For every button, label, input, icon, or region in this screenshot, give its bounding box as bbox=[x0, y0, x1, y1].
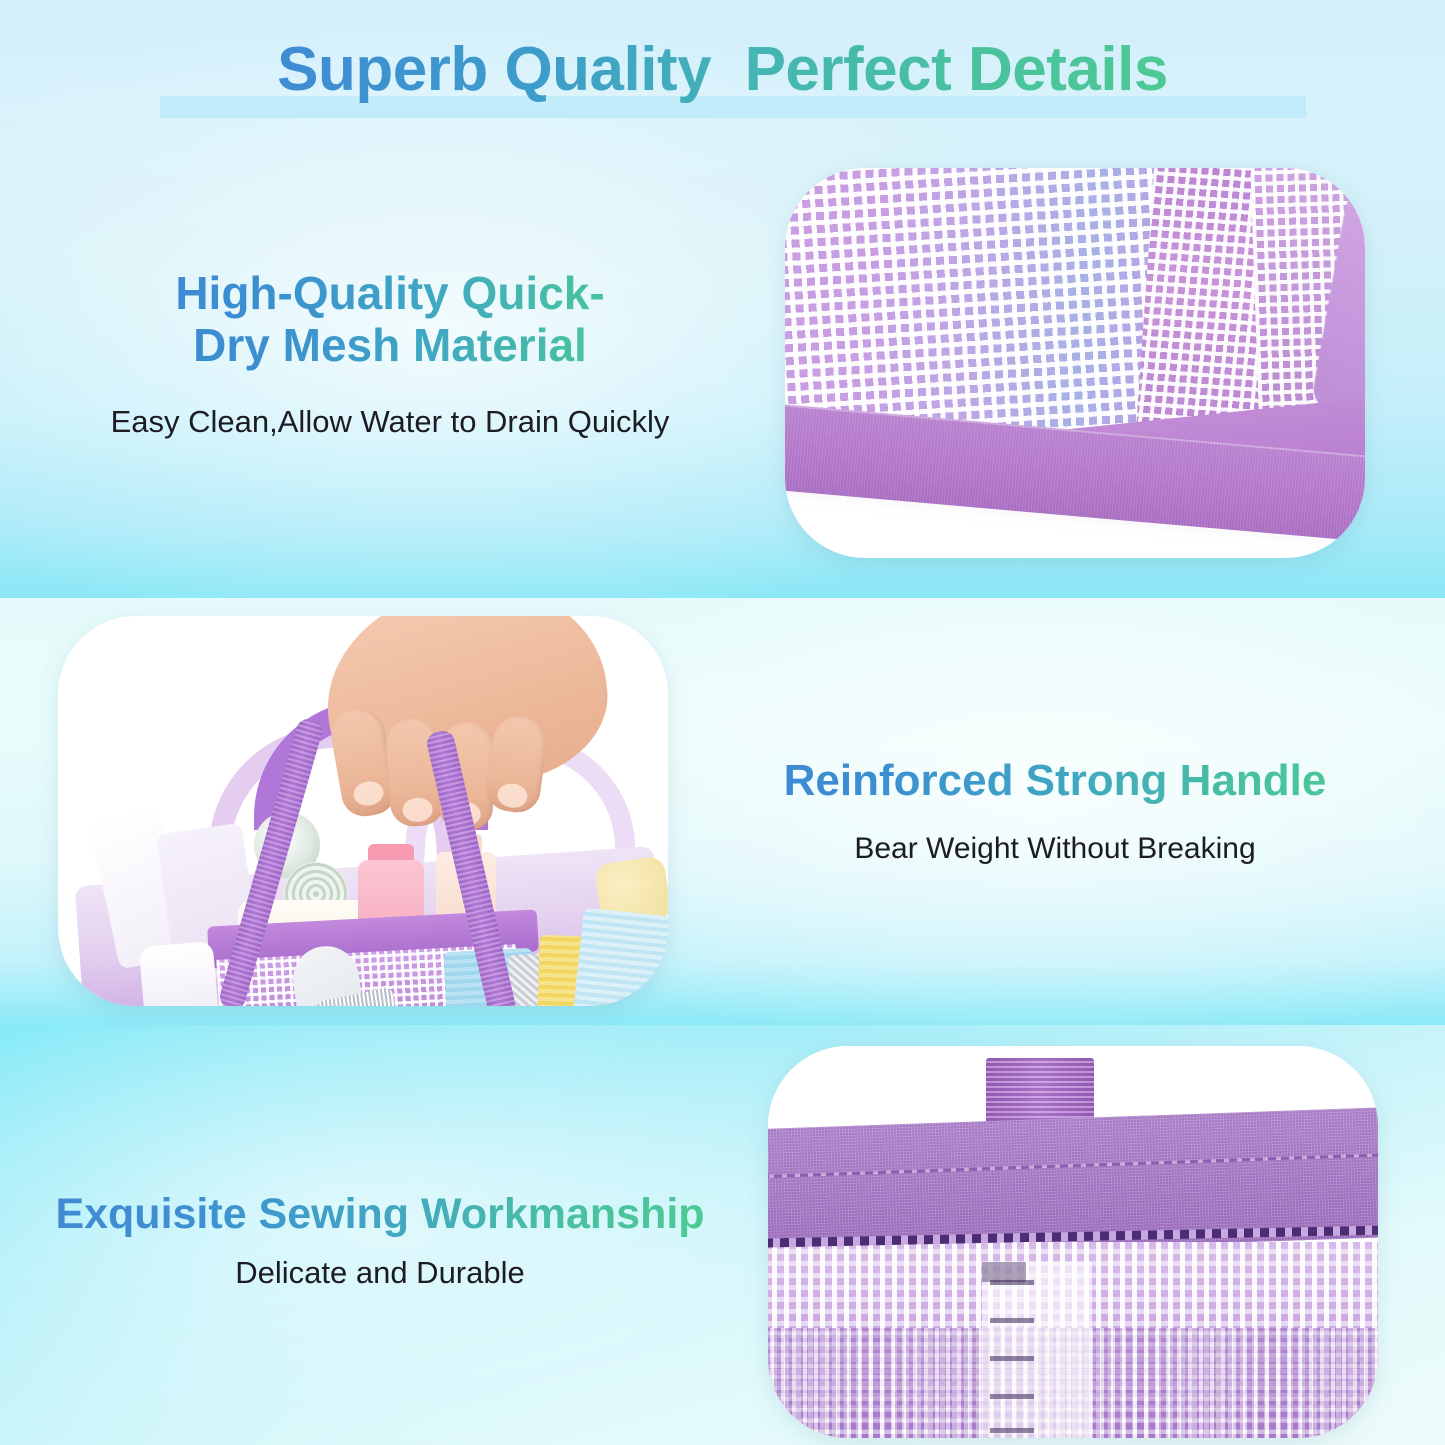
feature-title-line-2: Dry Mesh Material bbox=[193, 319, 587, 371]
care-label-line bbox=[990, 1280, 1034, 1285]
photo-reinforced-handle-content bbox=[58, 616, 668, 1006]
feature-subtitle-reinforced-handle: Bear Weight Without Breaking bbox=[690, 832, 1420, 866]
care-label bbox=[982, 1262, 1092, 1438]
feature-subtitle-sewing-workmanship: Delicate and Durable bbox=[10, 1255, 750, 1291]
feature-title-line-1: High-Quality Quick- bbox=[175, 267, 604, 319]
feature-title-quick-dry-mesh: High-Quality Quick-Dry Mesh Material bbox=[70, 268, 710, 371]
feature-title-reinforced-handle: Reinforced Strong Handle bbox=[690, 756, 1420, 805]
photo-reinforced-handle bbox=[58, 616, 668, 1006]
photo-quick-dry-mesh-content bbox=[785, 168, 1365, 558]
fingernail bbox=[496, 782, 529, 810]
photo-quick-dry-mesh bbox=[785, 168, 1365, 558]
page-title: Superb Quality Perfect Details bbox=[0, 34, 1445, 105]
product-infographic: Superb Quality Perfect Details High-Qual… bbox=[0, 0, 1445, 1445]
towel-light-blue bbox=[572, 907, 668, 1006]
fingernail bbox=[352, 779, 386, 808]
care-label-line bbox=[990, 1394, 1034, 1399]
toiletry-bottle-white-3 bbox=[139, 941, 220, 1006]
care-label-line bbox=[990, 1318, 1034, 1323]
feature-title-sewing-workmanship: Exquisite Sewing Workmanship bbox=[10, 1190, 750, 1238]
care-label-line bbox=[990, 1428, 1034, 1433]
feature-subtitle-quick-dry-mesh: Easy Clean,Allow Water to Drain Quickly bbox=[20, 404, 760, 440]
photo-sewing-workmanship bbox=[768, 1046, 1378, 1438]
fingernail bbox=[402, 797, 434, 823]
photo-sewing-workmanship-content bbox=[768, 1046, 1378, 1438]
care-label-line bbox=[990, 1356, 1034, 1361]
